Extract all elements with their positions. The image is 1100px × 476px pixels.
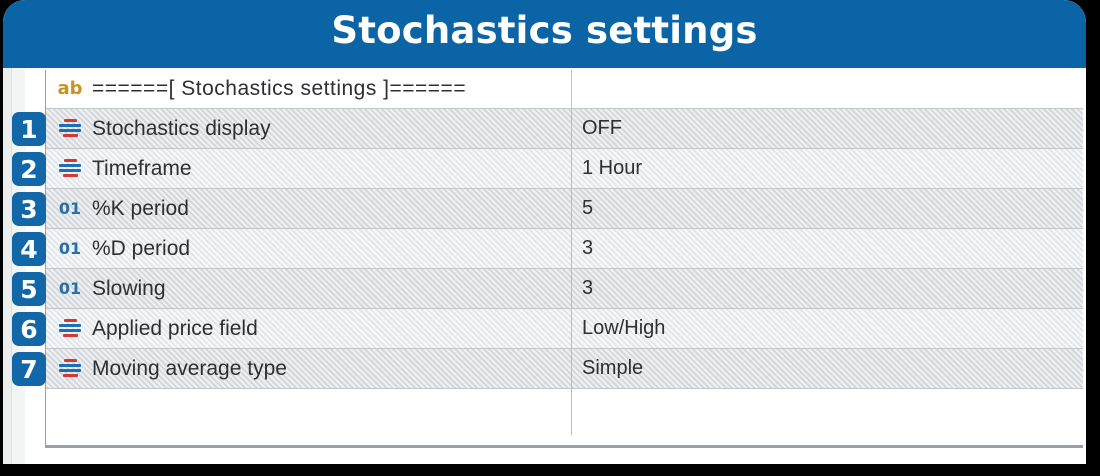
empty-name-cell — [46, 389, 572, 435]
step-badge: 2 — [12, 152, 46, 186]
group-header-label: ======[ Stochastics settings ]====== — [92, 77, 466, 101]
page-title: Stochastics settings — [3, 9, 1086, 52]
setting-name-cell: Stochastics display — [46, 109, 572, 148]
step-badge: 6 — [12, 312, 46, 346]
step-badge: 5 — [12, 272, 46, 306]
step-badge: 4 — [12, 232, 46, 266]
group-header-value-cell — [572, 70, 1083, 108]
table-empty-row — [46, 389, 1083, 435]
setting-value-cell[interactable]: 5 — [572, 189, 1083, 228]
setting-label: %D period — [92, 237, 190, 261]
setting-label: Moving average type — [92, 357, 287, 381]
setting-value-cell[interactable]: OFF — [572, 109, 1083, 148]
setting-row[interactable]: Stochastics displayOFF — [46, 109, 1083, 149]
setting-label: Timeframe — [92, 157, 192, 181]
setting-label: Applied price field — [92, 317, 258, 341]
int-icon: 01 — [56, 196, 84, 222]
setting-value: Low/High — [582, 317, 665, 340]
int-icon: 01 — [56, 236, 84, 262]
window-body: ab======[ Stochastics settings ]======St… — [3, 68, 1086, 464]
setting-value-cell[interactable]: 3 — [572, 229, 1083, 268]
step-badge: 3 — [12, 192, 46, 226]
setting-value: 1 Hour — [582, 157, 642, 180]
setting-row[interactable]: Timeframe1 Hour — [46, 149, 1083, 189]
setting-value: 3 — [582, 237, 593, 260]
empty-value-cell — [572, 389, 1083, 435]
setting-row[interactable]: Moving average typeSimple — [46, 349, 1083, 389]
setting-value-cell[interactable]: Low/High — [572, 309, 1083, 348]
int-icon: 01 — [56, 276, 84, 302]
step-badge: 7 — [12, 352, 46, 386]
step-badge: 1 — [12, 112, 46, 146]
settings-window: Stochastics settings ab======[ Stochasti… — [3, 0, 1086, 464]
table-group-header-row[interactable]: ab======[ Stochastics settings ]====== — [46, 70, 1083, 109]
setting-value-cell[interactable]: Simple — [572, 349, 1083, 388]
setting-name-cell: Timeframe — [46, 149, 572, 188]
setting-row[interactable]: Applied price fieldLow/High — [46, 309, 1083, 349]
setting-name-cell: Moving average type — [46, 349, 572, 388]
setting-value: 5 — [582, 197, 593, 220]
window-titlebar: Stochastics settings — [3, 0, 1086, 68]
setting-label: Slowing — [92, 277, 166, 301]
enum-icon — [56, 356, 84, 382]
step-badge-layer: 1234567 — [7, 68, 49, 464]
setting-value-cell[interactable]: 1 Hour — [572, 149, 1083, 188]
table-bottom-rule — [45, 446, 1083, 448]
setting-name-cell: 01%K period — [46, 189, 572, 228]
setting-value: Simple — [582, 357, 643, 380]
setting-row[interactable]: 01Slowing3 — [46, 269, 1083, 309]
setting-value: OFF — [582, 117, 622, 140]
enum-icon — [56, 156, 84, 182]
ab-icon: ab — [56, 76, 84, 102]
group-header-name-cell: ab======[ Stochastics settings ]====== — [46, 70, 572, 108]
setting-label: Stochastics display — [92, 117, 271, 141]
setting-label: %K period — [92, 197, 189, 221]
enum-icon — [56, 116, 84, 142]
setting-row[interactable]: 01%D period3 — [46, 229, 1083, 269]
setting-value: 3 — [582, 277, 593, 300]
setting-name-cell: 01%D period — [46, 229, 572, 268]
screen-background: Stochastics settings ab======[ Stochasti… — [0, 0, 1100, 476]
setting-name-cell: Applied price field — [46, 309, 572, 348]
setting-name-cell: 01Slowing — [46, 269, 572, 308]
settings-table: ab======[ Stochastics settings ]======St… — [45, 70, 1083, 446]
setting-value-cell[interactable]: 3 — [572, 269, 1083, 308]
setting-row[interactable]: 01%K period5 — [46, 189, 1083, 229]
enum-icon — [56, 316, 84, 342]
